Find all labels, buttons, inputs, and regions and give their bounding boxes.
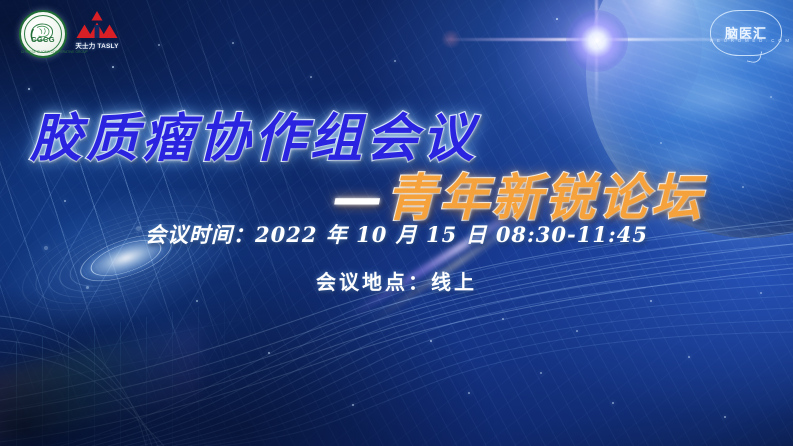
cgcg-arc-text: CHINESE GLIOMA COOPERATIVE GROUP [21, 50, 65, 54]
tasly-mountain-icon [75, 11, 119, 39]
conference-poster: CGCG CHINESE GLIOMA COOPERATIVE GROUP 天士… [0, 0, 793, 446]
meeting-time: 会议时间：2022 年 10 月 15 日 08:30-11:45 [0, 219, 793, 249]
tasly-wordmark: 天士力 TASLY [75, 40, 118, 50]
meeting-place: 会议地点：线上 [0, 266, 793, 295]
cgcg-logo[interactable]: CGCG CHINESE GLIOMA COOPERATIVE GROUP [19, 10, 67, 58]
cgcg-abbr: CGCG [21, 35, 65, 44]
tasly-logo[interactable]: 天士力 TASLY [74, 11, 120, 53]
naoyihui-logo[interactable]: 脑医汇 N E U R O M E D . C O M [710, 10, 782, 56]
naoyihui-en-text: N E U R O M E D . C O M [710, 38, 782, 43]
